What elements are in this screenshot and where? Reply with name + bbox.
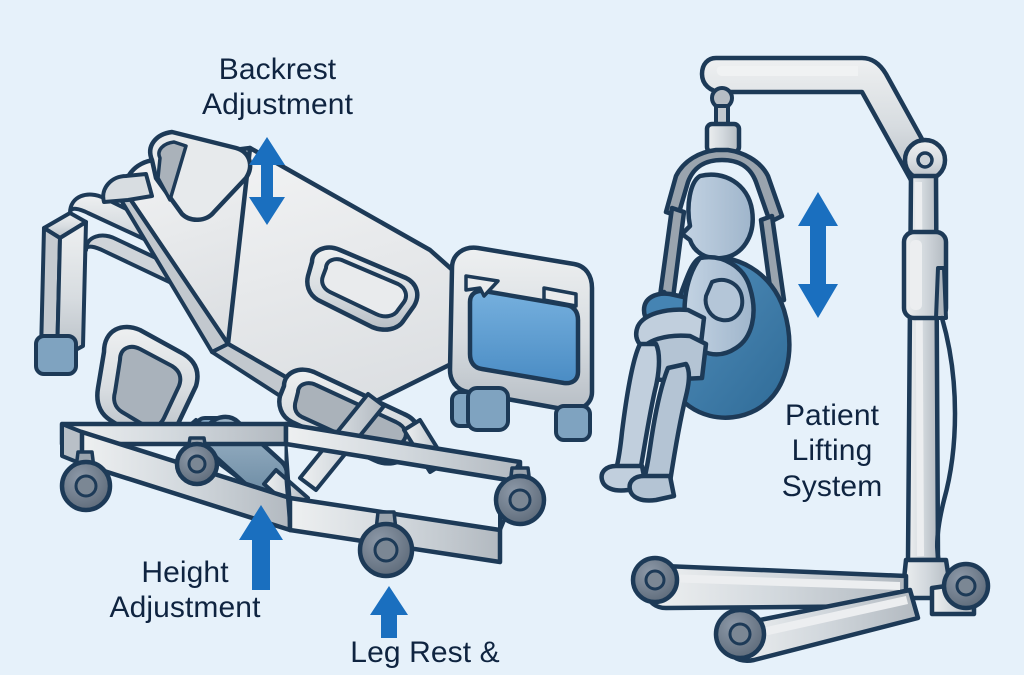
- label-patient-lifting-system: Patient Lifting System: [742, 398, 922, 504]
- label-height-adjustment: Height Adjustment: [60, 555, 310, 626]
- rail-foot-cap: [36, 336, 76, 374]
- diagram-canvas: Backrest Adjustment Height Adjustment Le…: [0, 0, 1024, 675]
- label-backrest-adjustment: Backrest Adjustment: [150, 52, 405, 123]
- label-leg-rest: Leg Rest &: [300, 635, 550, 670]
